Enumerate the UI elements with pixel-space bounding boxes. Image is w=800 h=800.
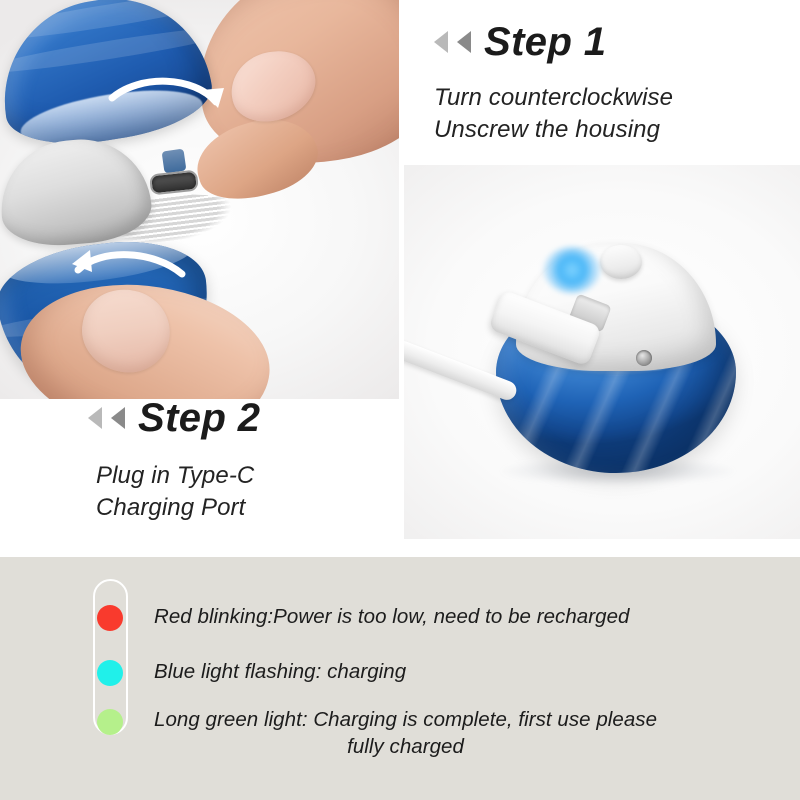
led-indicator-icon: [544, 247, 600, 293]
legend-item-blue: Blue light flashing: charging: [97, 660, 406, 686]
step-1-body: Turn counterclockwise Unscrew the housin…: [434, 82, 673, 146]
screw-icon: [636, 350, 652, 366]
step-2-title: Step 2: [138, 398, 260, 438]
triangle-left-dark-icon: [111, 407, 125, 429]
step-2-block: Step 2 Plug in Type-C Charging Port: [88, 398, 260, 524]
triangle-left-dark-icon: [457, 31, 471, 53]
infographic-canvas: Step 1 Turn counterclockwise Unscrew the…: [0, 0, 800, 800]
legend-item-red: Red blinking:Power is too low, need to b…: [97, 605, 629, 631]
clockwise-arrow-icon: [106, 72, 234, 132]
legend-text-blue: Blue light flashing: charging: [154, 659, 406, 686]
step-2-body: Plug in Type-C Charging Port: [96, 460, 260, 524]
legend-item-green: Long green light: Charging is complete, …: [97, 709, 657, 760]
triangle-left-light-icon: [434, 31, 448, 53]
legend-text-green: Long green light: Charging is complete, …: [154, 707, 657, 760]
power-button[interactable]: [600, 245, 642, 279]
photo-open-housing: [0, 0, 399, 399]
green-dot-icon: [97, 709, 123, 735]
legend-text-red: Red blinking:Power is too low, need to b…: [154, 604, 629, 631]
triangle-left-light-icon: [88, 407, 102, 429]
step-1-block: Step 1 Turn counterclockwise Unscrew the…: [434, 22, 673, 146]
cyan-dot-icon: [97, 660, 123, 686]
red-dot-icon: [97, 605, 123, 631]
usb-c-port-icon: [149, 170, 199, 196]
step-2-heading: Step 2: [88, 398, 260, 438]
step-1-title: Step 1: [484, 22, 606, 62]
counterclockwise-arrow-icon: [58, 228, 188, 290]
photo-charging: [404, 165, 800, 539]
core-tab: [162, 149, 187, 174]
step-1-heading: Step 1: [434, 22, 673, 62]
led-status-legend: Red blinking:Power is too low, need to b…: [0, 557, 800, 800]
